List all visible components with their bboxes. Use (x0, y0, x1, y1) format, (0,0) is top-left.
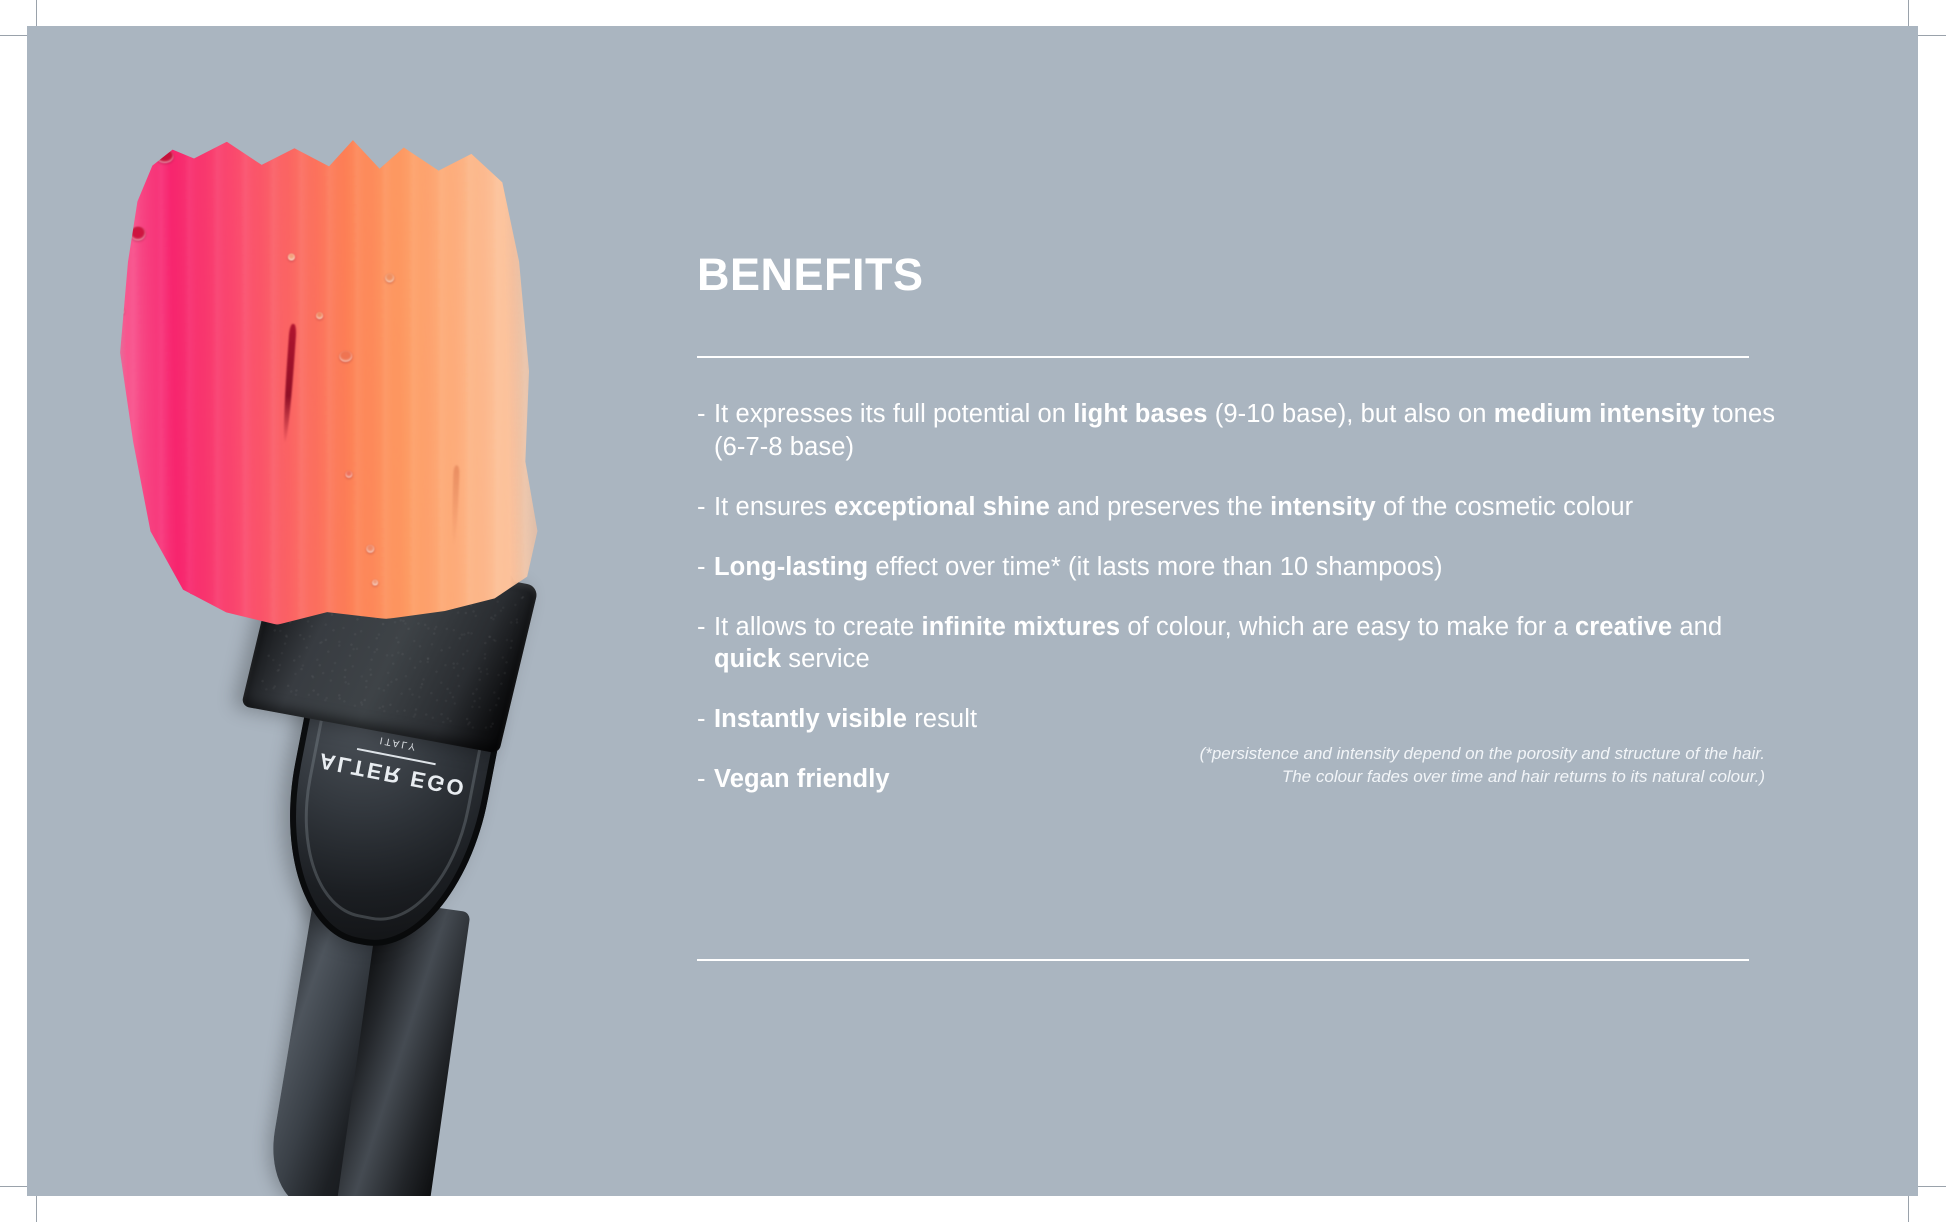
benefit-text-run: result (907, 705, 977, 733)
brush-handle-shaft-highlight (334, 900, 471, 1196)
colour-droplet (118, 307, 125, 314)
divider-top (697, 356, 1749, 358)
brush-handle-shaft (263, 706, 462, 1196)
colour-droplet (130, 226, 146, 241)
benefit-text-run: of the cosmetic colour (1376, 493, 1633, 521)
benefit-dash: - (697, 398, 706, 431)
benefit-dash: - (697, 551, 706, 584)
brush-handle-bevel (284, 687, 487, 934)
page-title: BENEFITS (697, 252, 924, 297)
brush-handle-paddle: SALON EXCLUSIVE ITALY ALTER EGO (264, 662, 508, 962)
brush-brand-rule (357, 748, 436, 765)
benefit-item-light-bases: -It expresses its full potential on ligh… (697, 398, 1787, 464)
colour-droplet (385, 273, 394, 282)
benefit-text-run: exceptional shine (834, 493, 1050, 521)
benefit-text-run: (9-10 base), but also on (1208, 400, 1494, 428)
benefit-text-run: It expresses its full potential on (714, 400, 1073, 428)
divider-bottom (697, 959, 1749, 961)
benefit-text-run: It allows to create (714, 613, 922, 641)
footnote-line-2: The colour fades over time and hair retu… (1065, 765, 1765, 788)
benefits-list: -It expresses its full potential on ligh… (697, 398, 1787, 796)
benefit-text-run: Long-lasting (714, 553, 868, 581)
benefit-item-instantly-visible: -Instantly visible result (697, 703, 1787, 736)
benefit-text-run: service (781, 645, 870, 673)
benefit-text-run: medium intensity (1494, 400, 1705, 428)
colour-droplet (366, 545, 374, 553)
brush-ferrule-lip (265, 529, 515, 596)
benefit-text-run: creative (1575, 613, 1672, 641)
benefit-text-run: of colour, which are easy to make for a (1120, 613, 1575, 641)
colour-droplet (339, 350, 353, 362)
benefit-text-run: Instantly visible (714, 705, 907, 733)
benefit-text-run: quick (714, 645, 781, 673)
footnote-line-1: (*persistence and intensity depend on th… (1065, 742, 1765, 765)
colour-droplet (372, 579, 378, 585)
colour-drip-peach (451, 465, 460, 547)
benefit-text-run: Vegan friendly (714, 765, 890, 793)
benefit-text-run: intensity (1270, 493, 1376, 521)
bristle-streaks (100, 111, 546, 632)
brush-brand-tagline: SALON EXCLUSIVE (306, 698, 501, 747)
tint-brush-product-photo: SALON EXCLUSIVE ITALY ALTER EGO (27, 26, 587, 1196)
benefit-dash: - (697, 611, 706, 644)
brush-brand-country: ITALY (302, 719, 496, 767)
benefit-item-infinite-mixtures: -It allows to create infinite mixtures o… (697, 611, 1787, 677)
benefit-text-run: It ensures (714, 493, 834, 521)
benefit-text-run: infinite mixtures (922, 613, 1121, 641)
benefit-text-run: and (1672, 613, 1722, 641)
benefit-dash: - (697, 491, 706, 524)
slide-root: SALON EXCLUSIVE ITALY ALTER EGO (0, 0, 1946, 1222)
content-column: BENEFITS -It expresses its full potentia… (697, 26, 1787, 1196)
benefit-text-run: light bases (1073, 400, 1207, 428)
brush-ferrule (241, 538, 539, 753)
colour-smear (100, 111, 546, 632)
colour-droplet (287, 253, 294, 260)
benefit-dash: - (697, 703, 706, 736)
benefit-item-long-lasting: -Long-lasting effect over time* (it last… (697, 551, 1787, 584)
brush-brand-name: ALTER EGO (294, 743, 491, 806)
colour-droplet (345, 471, 352, 478)
slide-artboard: SALON EXCLUSIVE ITALY ALTER EGO (27, 26, 1918, 1196)
benefit-text-run: effect over time* (it lasts more than 10… (868, 553, 1442, 581)
footnote: (*persistence and intensity depend on th… (1065, 742, 1765, 789)
colour-droplet (316, 312, 323, 319)
colour-spill (175, 540, 508, 647)
benefit-dash: - (697, 763, 706, 796)
colour-droplet (156, 150, 174, 164)
colour-drip-red (282, 324, 297, 444)
benefit-text-run: and preserves the (1050, 493, 1270, 521)
benefit-item-exceptional-shine: -It ensures exceptional shine and preser… (697, 491, 1787, 524)
brush-ferrule-texture (256, 548, 527, 738)
